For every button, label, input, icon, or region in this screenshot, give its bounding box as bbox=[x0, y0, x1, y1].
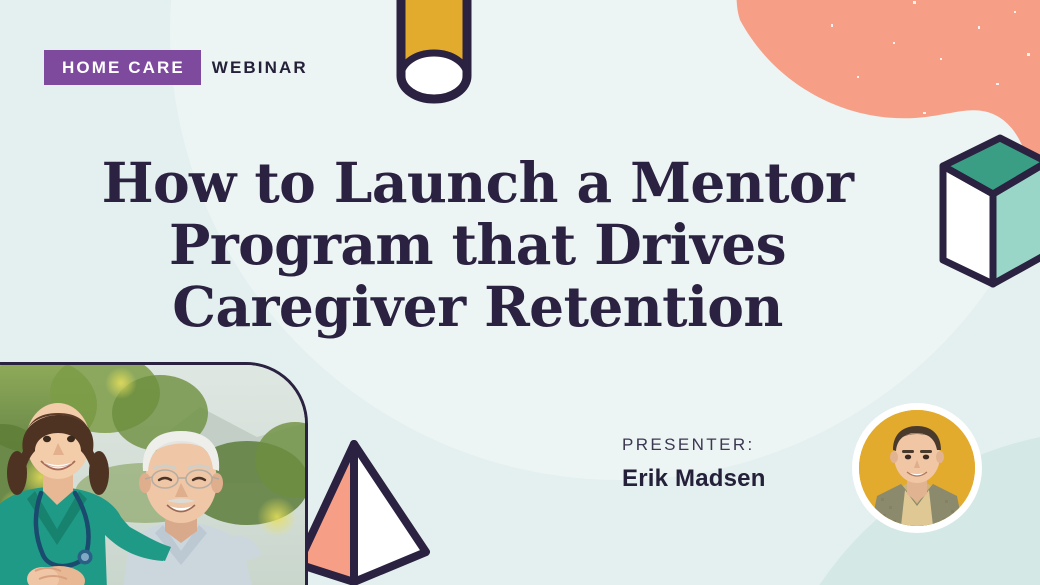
caregiver-patient-photo bbox=[0, 362, 308, 585]
webinar-promo-canvas: HOME CARE WEBINAR How to Launch a Mentor… bbox=[0, 0, 1040, 585]
home-care-badge: HOME CARE bbox=[44, 50, 201, 85]
presenter-name: Erik Madsen bbox=[622, 467, 837, 491]
photo-image bbox=[0, 365, 305, 585]
pyramid-shape bbox=[286, 436, 438, 585]
avatar-image bbox=[859, 410, 975, 526]
avatar bbox=[852, 403, 982, 533]
page-title: How to Launch a Mentor Program that Driv… bbox=[0, 152, 955, 338]
yellow-cylinder-shape bbox=[396, 0, 472, 106]
title-line-3: Caregiver Retention bbox=[0, 276, 955, 338]
title-line-2: Program that Drives bbox=[0, 214, 955, 276]
header-badge-row: HOME CARE WEBINAR bbox=[44, 50, 308, 85]
presenter-label: PRESENTER: bbox=[622, 436, 837, 453]
presenter-block: PRESENTER: Erik Madsen bbox=[622, 436, 837, 491]
title-line-1: How to Launch a Mentor bbox=[0, 152, 955, 214]
webinar-label: WEBINAR bbox=[212, 59, 308, 76]
